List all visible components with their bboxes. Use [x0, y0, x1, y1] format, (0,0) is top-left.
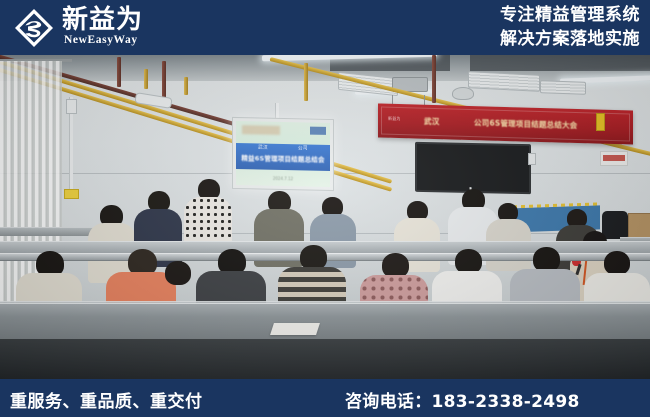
slogan-line-2: 解决方案落地实施	[500, 27, 640, 51]
footer-tagline: 重服务、重品质、重交付	[10, 387, 203, 412]
wall-outlet	[528, 153, 536, 165]
banner-logo-text: 新益为	[388, 116, 401, 122]
slide-company-suffix: 公司	[298, 145, 308, 151]
document-sheet	[270, 323, 320, 335]
slide-company-prefix: 武汉	[258, 144, 268, 150]
air-vent	[540, 80, 586, 95]
pipe-drop	[304, 63, 308, 101]
banner-text-left: 武汉	[424, 116, 440, 127]
pipe-drop	[144, 69, 148, 89]
footer-contact-phone[interactable]: 咨询电话：183-2338-2498	[345, 387, 580, 412]
presentation-slide: 武汉 公司 精益6S管理项目结题总结会 2024.7.12	[236, 121, 330, 187]
diamond-e-logo-icon	[14, 8, 54, 48]
slide-title: 精益6S管理项目结题总结会	[236, 152, 330, 164]
slide-gap	[270, 149, 296, 150]
floor	[0, 339, 650, 379]
pipe-drop	[117, 57, 121, 87]
brand-name-en: NewEasyWay	[64, 34, 138, 46]
wall-marker	[596, 113, 605, 131]
projection-screen: 武汉 公司 精益6S管理项目结题总结会 2024.7.12	[232, 117, 334, 191]
person-head	[604, 251, 630, 275]
slogan-line-1: 专注精益管理系统	[500, 3, 640, 27]
meeting-room-photo: 武汉 公司 精益6S管理项目结题总结会 2024.7.12 新益为 武汉 公司6…	[0, 55, 650, 379]
slide-logo-icon	[310, 127, 326, 135]
footer-bar: 重服务、重品质、重交付 咨询电话：183-2338-2498	[0, 379, 650, 417]
promotional-photo-banner: 武汉 公司 精益6S管理项目结题总结会 2024.7.12 新益为 武汉 公司6…	[0, 0, 650, 417]
brand-name-zh: 新益为	[62, 5, 143, 35]
wall-safety-sign	[600, 151, 628, 166]
event-red-banner: 新益为 武汉 公司6S管理项目结题总结大会	[378, 103, 633, 144]
ceiling-panel	[470, 55, 650, 71]
header-slogan: 专注精益管理系统 解决方案落地实施	[500, 3, 640, 51]
brand-logo[interactable]: 新益为 NewEasyWay	[14, 4, 204, 52]
header-bar: 新益为 NewEasyWay 专注精益管理系统 解决方案落地实施	[0, 0, 650, 55]
wall-switch	[66, 99, 77, 114]
slide-date: 2024.7.12	[236, 175, 330, 182]
backpack	[602, 211, 628, 239]
pipe-drop	[432, 55, 436, 103]
ceiling-fan	[452, 87, 474, 100]
wall-tv	[415, 142, 531, 194]
wall-label	[64, 189, 79, 199]
slide-header-block	[242, 125, 280, 135]
pipe-drop	[184, 77, 188, 95]
person-head	[165, 261, 191, 285]
